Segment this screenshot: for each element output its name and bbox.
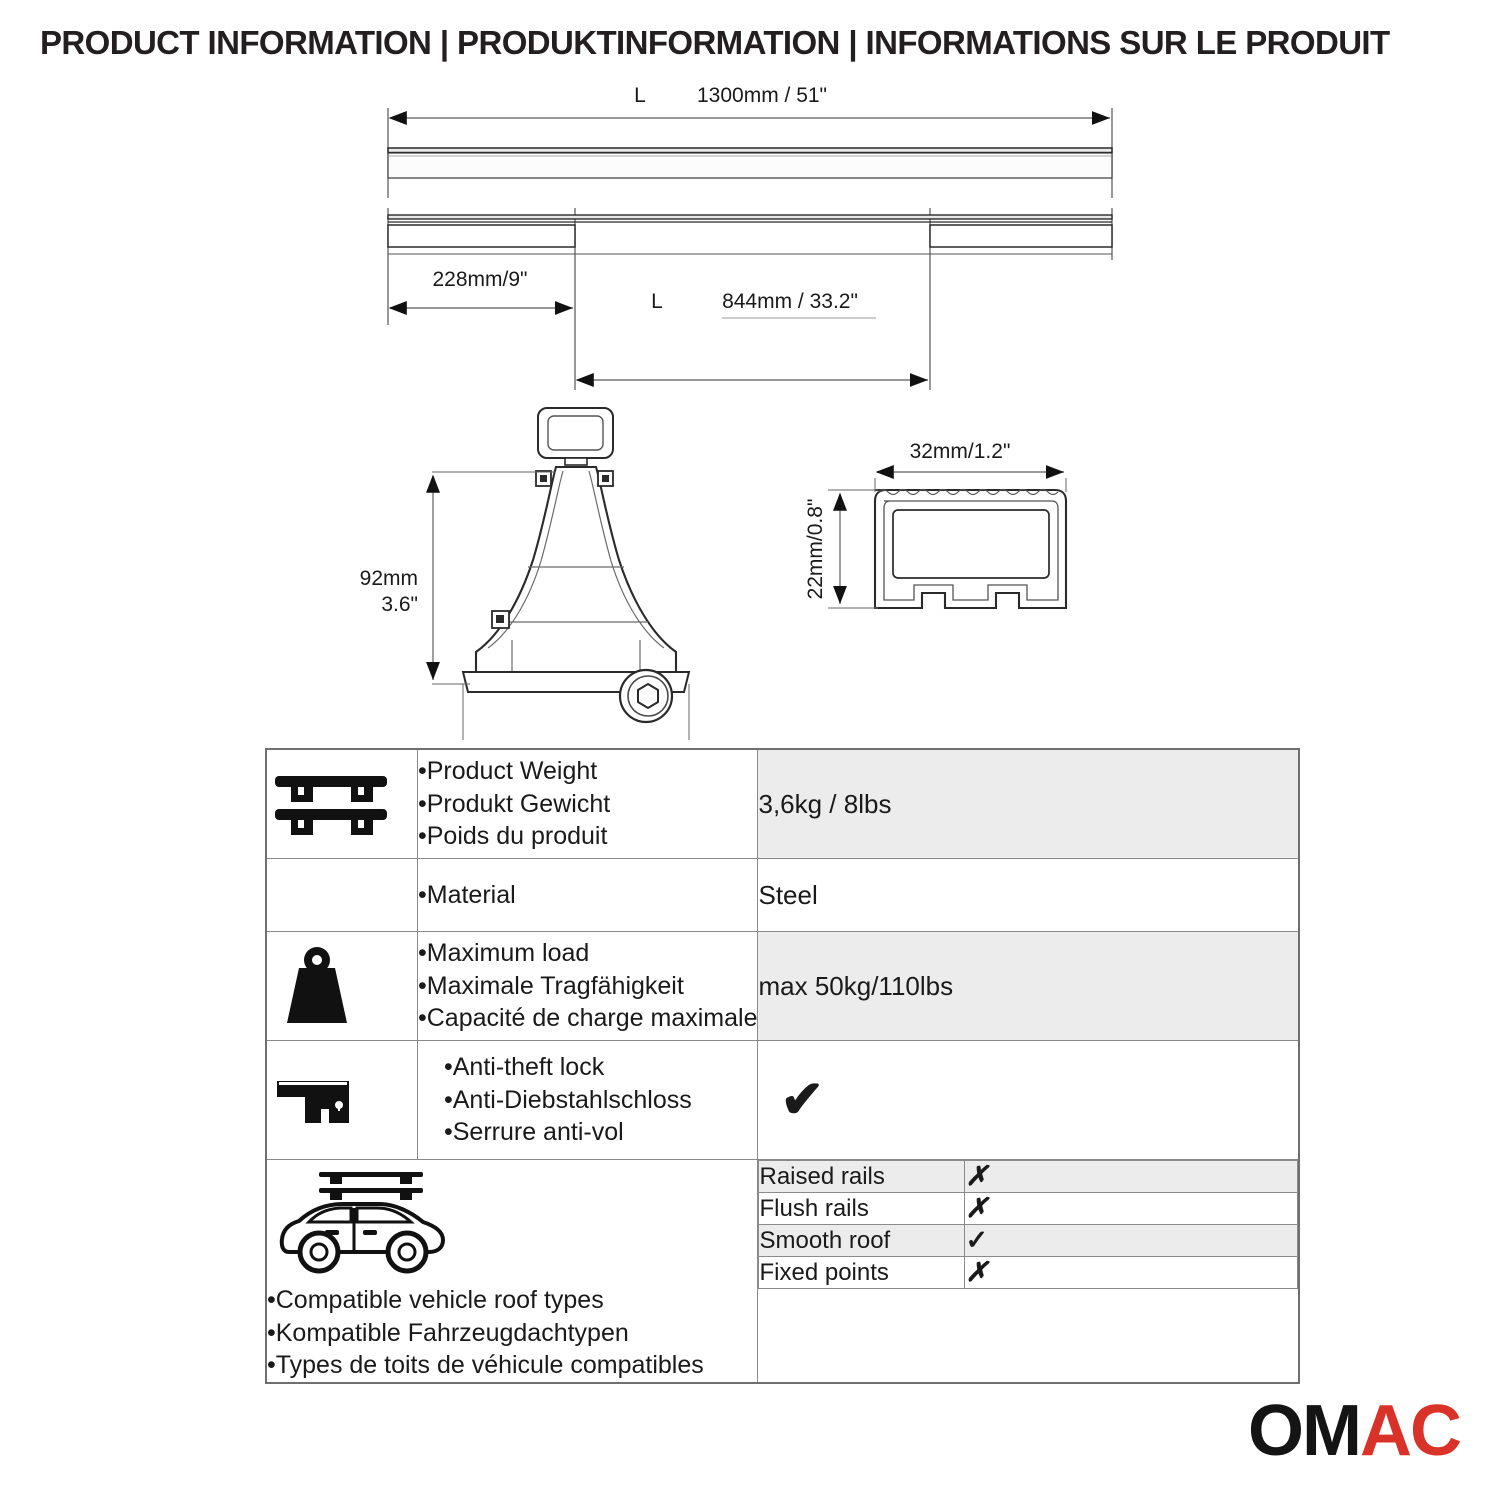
empty-icon-cell	[266, 859, 418, 932]
label-line: •Serrure anti-vol	[444, 1116, 757, 1149]
cross-icon: ✗	[965, 1161, 988, 1191]
label-line: •Material	[418, 879, 757, 912]
label-line: •Poids du produit	[418, 820, 757, 853]
label-line: •Maximale Tragfähigkeit	[418, 970, 757, 1003]
check-icon: ✓	[965, 1225, 988, 1255]
omac-logo: OMAC	[1248, 1390, 1460, 1472]
dim-offset-value: 228mm/9"	[433, 268, 528, 291]
roof-type-row-fixed-points: Fixed points ✗	[759, 1257, 1298, 1289]
dim-foot-height-mm: 92mm	[360, 567, 418, 590]
dim-span-value: 844mm / 33.2"	[722, 290, 858, 313]
value-maximum-load: max 50kg/110lbs	[758, 932, 1299, 1041]
label-compatible-roof-types: •Compatible vehicle roof types •Kompatib…	[266, 1160, 758, 1383]
value-anti-theft-lock: ✔	[758, 1041, 1299, 1160]
label-line: •Maximum load	[418, 937, 757, 970]
label-line: •Anti-theft lock	[444, 1051, 757, 1084]
foot-drawing: 92mm 3.6" 104mm / 4"	[360, 408, 689, 740]
dim-foot-height-in: 3.6"	[381, 593, 418, 616]
cross-icon: ✗	[965, 1257, 988, 1287]
dim-profile-width: 32mm/1.2"	[910, 440, 1011, 463]
dim-foot-width: 104mm / 4"	[523, 738, 630, 740]
label-product-weight: •Product Weight •Produkt Gewicht •Poids …	[418, 749, 758, 859]
roof-type-label: Raised rails	[759, 1161, 965, 1193]
car-with-roof-rack-icon	[267, 1160, 757, 1278]
profile-cross-section: 32mm/1.2" 22mm/0.8"	[804, 440, 1066, 608]
roof-type-subtable: Raised rails ✗ Flush rails ✗ Smooth roof…	[758, 1160, 1298, 1289]
value-product-weight: 3,6kg / 8lbs	[758, 749, 1299, 859]
dim-bar-length-value: 1300mm / 51"	[697, 84, 827, 107]
table-row: •Product Weight •Produkt Gewicht •Poids …	[266, 749, 1299, 859]
table-row-compatibility: •Compatible vehicle roof types •Kompatib…	[266, 1160, 1299, 1383]
roof-type-label: Smooth roof	[759, 1225, 965, 1257]
logo-text-red: AC	[1360, 1390, 1460, 1472]
table-row: •Maximum load •Maximale Tragfähigkeit •C…	[266, 932, 1299, 1041]
label-anti-theft-lock: •Anti-theft lock •Anti-Diebstahlschloss …	[418, 1041, 758, 1160]
label-line: •Product Weight	[418, 755, 757, 788]
crossbars-icon	[266, 749, 418, 859]
roof-type-mark: ✗	[965, 1257, 1298, 1289]
dim-span-symbol: L	[651, 290, 663, 313]
specification-table: •Product Weight •Produkt Gewicht •Poids …	[265, 748, 1300, 1384]
roof-type-row-raised-rails: Raised rails ✗	[759, 1161, 1298, 1193]
page-title: PRODUCT INFORMATION | PRODUKTINFORMATION…	[40, 24, 1460, 62]
label-line: •Kompatible Fahrzeugdachtypen	[267, 1317, 757, 1350]
dim-bar-length-symbol: L	[634, 84, 646, 107]
value-material: Steel	[758, 859, 1299, 932]
roof-type-row-flush-rails: Flush rails ✗	[759, 1193, 1298, 1225]
roof-type-label: Flush rails	[759, 1193, 965, 1225]
roof-type-label: Fixed points	[759, 1257, 965, 1289]
label-line: •Capacité de charge maximale	[418, 1002, 757, 1035]
logo-text-black: OM	[1248, 1390, 1360, 1472]
roof-type-mark: ✗	[965, 1161, 1298, 1193]
label-line: •Anti-Diebstahlschloss	[444, 1084, 757, 1117]
table-row: •Anti-theft lock •Anti-Diebstahlschloss …	[266, 1041, 1299, 1160]
label-line: •Compatible vehicle roof types	[267, 1284, 757, 1317]
roof-type-mark: ✓	[965, 1225, 1298, 1257]
check-icon: ✔	[758, 1074, 1298, 1126]
roof-type-subtable-cell: Raised rails ✗ Flush rails ✗ Smooth roof…	[758, 1160, 1299, 1383]
lock-icon	[266, 1041, 418, 1160]
table-row: •Material Steel	[266, 859, 1299, 932]
label-maximum-load: •Maximum load •Maximale Tragfähigkeit •C…	[418, 932, 758, 1041]
label-material: •Material	[418, 859, 758, 932]
roof-type-row-smooth-roof: Smooth roof ✓	[759, 1225, 1298, 1257]
cross-icon: ✗	[965, 1193, 988, 1223]
weight-icon	[266, 932, 418, 1041]
label-line: •Types de toits de véhicule compatibles	[267, 1349, 757, 1382]
label-line: •Produkt Gewicht	[418, 788, 757, 821]
dim-profile-height: 22mm/0.8"	[804, 499, 827, 600]
technical-drawings: L 1300mm / 51" 228mm/9" L 844mm / 33.2"	[0, 80, 1500, 740]
roof-type-mark: ✗	[965, 1193, 1298, 1225]
